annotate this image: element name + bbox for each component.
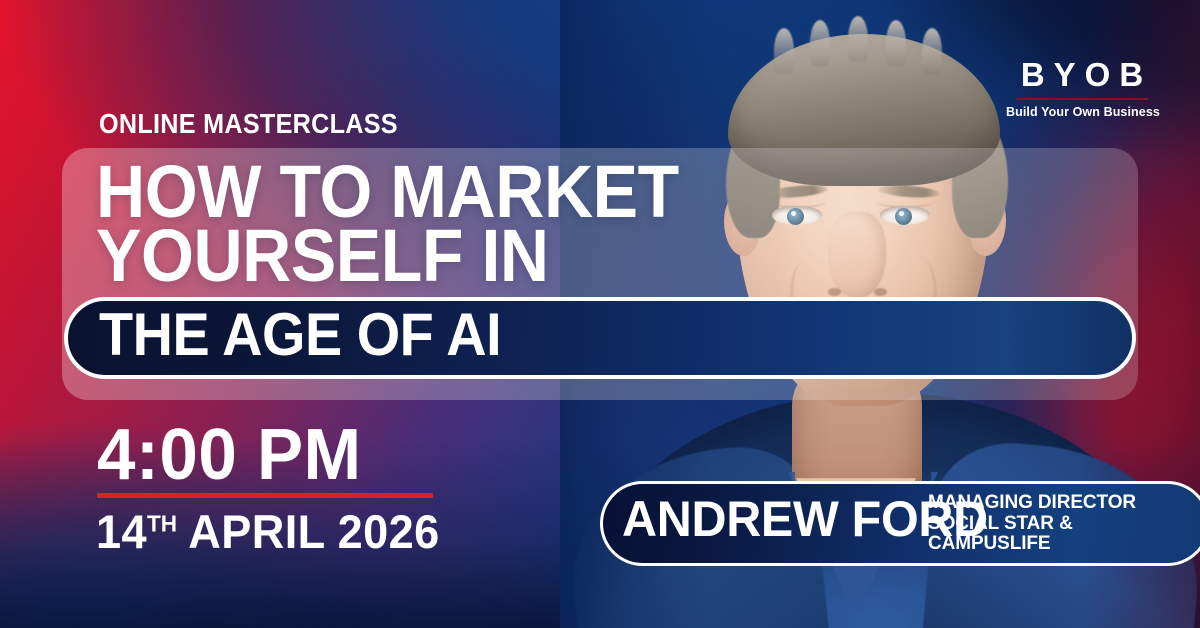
- speaker-role: MANAGING DIRECTOR SOCIAL STAR & CAMPUSLI…: [928, 493, 1136, 555]
- logo-divider: [1016, 98, 1148, 100]
- date-day: 14: [96, 505, 147, 558]
- logo-wordmark: BYOB: [1006, 58, 1158, 91]
- hair-spike: [848, 16, 868, 62]
- time-underline-rule: [97, 493, 433, 498]
- date-ordinal: TH: [147, 510, 177, 536]
- page-title: HOW TO MARKET YOURSELF IN: [96, 160, 679, 287]
- event-date: 14TH APRIL 2026: [96, 508, 440, 555]
- headline-highlight-text: THE AGE OF AI: [99, 305, 501, 365]
- event-time: 4:00 PM: [97, 419, 362, 491]
- logo-tagline: Build Your Own Business: [1006, 106, 1158, 119]
- byob-logo: BYOB Build Your Own Business: [1006, 58, 1158, 119]
- kicker-label: ONLINE MASTERCLASS: [99, 110, 398, 138]
- hair-spike: [774, 28, 794, 74]
- masterclass-promo-poster: ONLINE MASTERCLASS HOW TO MARKET YOURSEL…: [0, 0, 1200, 628]
- hair-spike: [886, 20, 906, 66]
- date-rest: APRIL 2026: [177, 505, 440, 558]
- hair-spike: [810, 20, 830, 66]
- hair-spike: [922, 28, 942, 74]
